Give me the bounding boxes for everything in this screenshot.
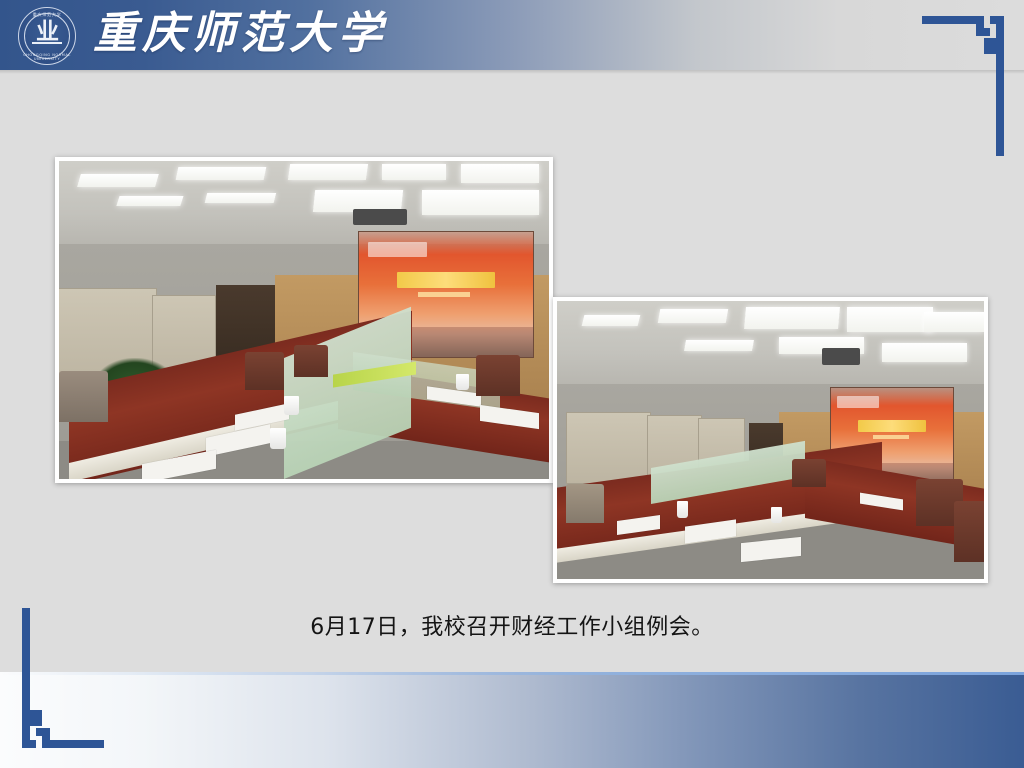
emblem-ring-text-top: 重庆师范大学: [19, 12, 75, 18]
chair: [245, 352, 284, 390]
chair: [792, 459, 826, 487]
screen-subtitle-text: [418, 292, 470, 297]
chair: [954, 501, 984, 562]
emblem-center-glyph: 业: [19, 20, 75, 43]
ceiling-light: [461, 164, 539, 183]
chair: [476, 355, 520, 396]
page-title: 重庆师范大学: [93, 2, 387, 66]
ceiling-light: [382, 164, 446, 180]
screen-subtitle-text: [873, 435, 910, 439]
ceiling-light: [581, 315, 639, 326]
ceiling-light: [847, 307, 932, 332]
ceiling-light: [116, 196, 183, 206]
ceiling-light: [205, 193, 276, 203]
emblem-ring-text-bottom: CHONGQING NORMAL UNIVERSITY: [19, 53, 75, 61]
meeting-photo-2: [553, 297, 988, 583]
paper-cup: [771, 507, 783, 524]
header-shadow: [0, 70, 1024, 74]
paper-cup: [284, 396, 299, 415]
projector: [353, 209, 407, 225]
paper-cup: [456, 374, 469, 390]
ceiling-light: [744, 307, 840, 329]
paper-document: [741, 537, 801, 563]
ceiling-light: [882, 343, 967, 362]
ceiling-light: [422, 190, 540, 215]
projector: [822, 348, 860, 365]
wall-panel: [566, 412, 651, 484]
paper-cup: [270, 428, 287, 449]
ceiling-light: [288, 164, 369, 180]
presentation-slide: 重庆师范大学 业 CHONGQING NORMAL UNIVERSITY 重庆师…: [0, 0, 1024, 768]
ceiling-light: [924, 312, 984, 331]
chair: [566, 484, 604, 523]
meeting-photo-2-image: [557, 301, 984, 579]
screen-title-text: [858, 420, 926, 433]
footer-banner-highlight: [0, 672, 1024, 675]
meeting-photo-1-image: [59, 161, 549, 479]
slide-caption: 6月17日，我校召开财经工作小组例会。: [0, 612, 1024, 644]
ceiling-light: [175, 167, 266, 180]
meeting-photo-1: [55, 157, 553, 483]
screen-logo: [368, 242, 427, 257]
emblem-book-shape: [32, 42, 62, 52]
university-emblem-icon: 重庆师范大学 业 CHONGQING NORMAL UNIVERSITY: [18, 7, 76, 65]
chair: [59, 371, 108, 422]
decorative-corner-bottom-left-icon: [14, 604, 116, 756]
paper-cup: [677, 501, 688, 518]
chair: [294, 345, 328, 377]
screen-title-text: [397, 272, 495, 288]
ceiling-light: [658, 309, 729, 323]
ceiling-light: [684, 340, 754, 351]
footer-banner: [0, 672, 1024, 768]
decorative-corner-top-right-icon: [910, 8, 1012, 160]
ceiling-light: [77, 174, 159, 187]
screen-logo: [837, 396, 878, 408]
